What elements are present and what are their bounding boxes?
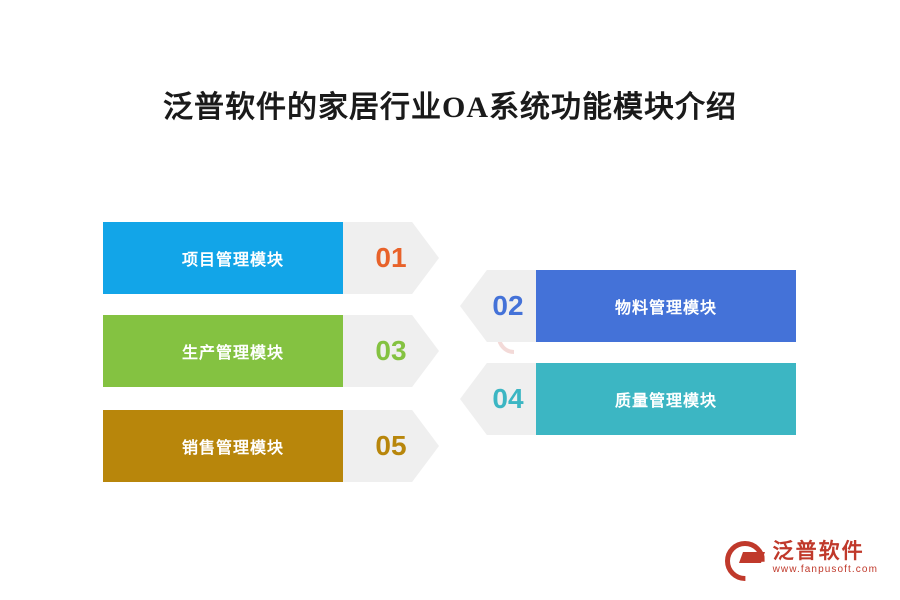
item-01-number: 01	[375, 242, 406, 274]
item-04-bar[interactable]: 质量管理模块	[536, 363, 796, 435]
item-05-number: 05	[375, 430, 406, 462]
brand-logo-icon	[725, 538, 765, 578]
brand-logo-text: 泛普软件 www.fanpusoft.com	[773, 540, 878, 576]
slide-canvas: 泛普软件的家居行业OA系统功能模块介绍 泛普软件 FANPU SOFTWARE …	[0, 0, 900, 600]
process-diagram: 项目管理模块 01 02 物料管理模块 生产管理模块 03	[0, 0, 900, 600]
item-02-label: 物料管理模块	[615, 294, 717, 318]
item-05-label: 销售管理模块	[182, 434, 284, 458]
brand-url: www.fanpusoft.com	[773, 564, 878, 576]
item-05-number-badge[interactable]: 05	[343, 410, 439, 482]
item-04-label: 质量管理模块	[615, 387, 717, 411]
item-02-bar[interactable]: 物料管理模块	[536, 270, 796, 342]
logo-swoosh-shape	[739, 552, 765, 563]
item-03-bar[interactable]: 生产管理模块	[103, 315, 363, 387]
brand-logo: 泛普软件 www.fanpusoft.com	[725, 538, 878, 578]
brand-name-cn: 泛普软件	[773, 540, 878, 564]
item-05-bar[interactable]: 销售管理模块	[103, 410, 363, 482]
item-01-bar[interactable]: 项目管理模块	[103, 222, 363, 294]
item-03-number: 03	[375, 335, 406, 367]
item-03-number-badge[interactable]: 03	[343, 315, 439, 387]
item-01-label: 项目管理模块	[182, 246, 284, 270]
item-03-label: 生产管理模块	[182, 339, 284, 363]
diagram-item-05[interactable]: 销售管理模块 05	[103, 410, 539, 482]
item-01-number-badge[interactable]: 01	[343, 222, 439, 294]
